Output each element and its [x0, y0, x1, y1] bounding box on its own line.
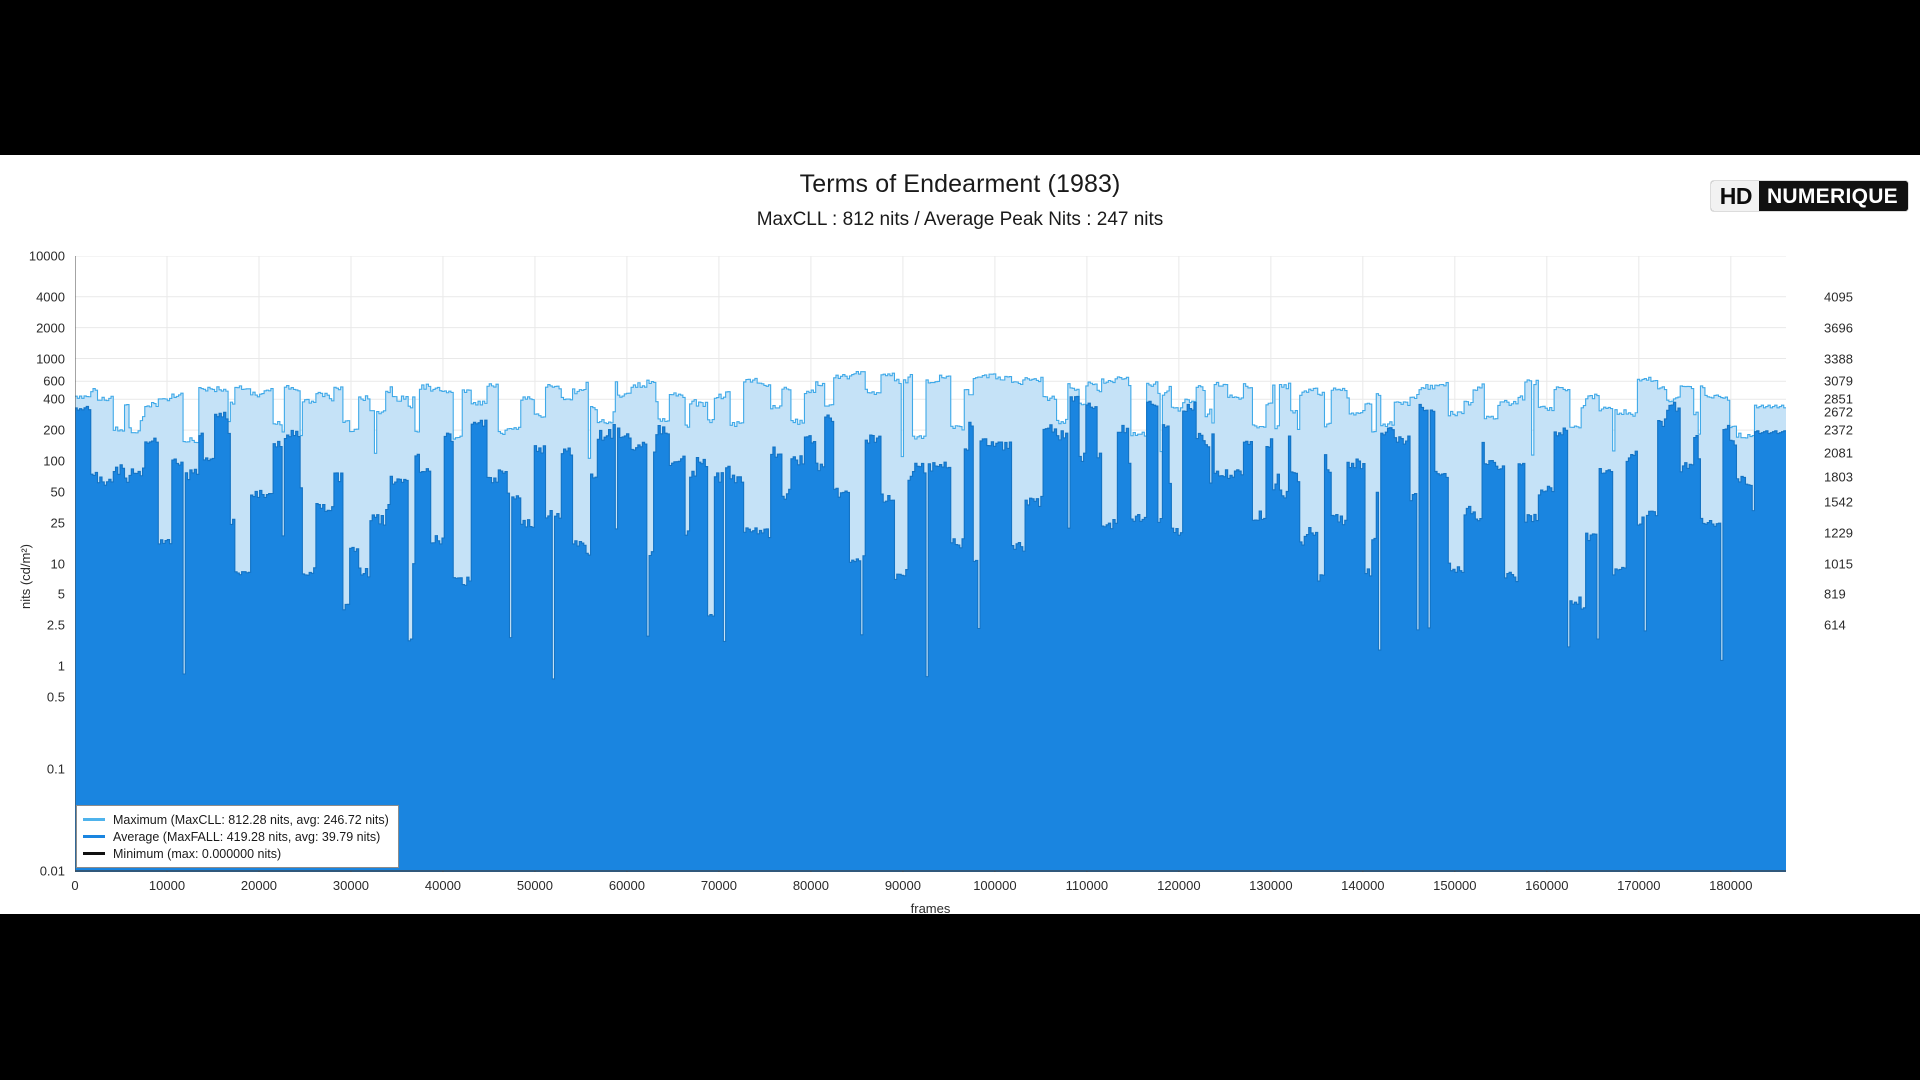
y-axis-tick-label: 2000 [0, 320, 65, 335]
x-axis-tick-label: 30000 [333, 878, 369, 893]
y-axis-tick-label: 600 [0, 374, 65, 389]
y2-axis-tick-label: 1542 [1824, 494, 1853, 509]
letterbox-bottom-bar [0, 914, 1920, 1080]
legend-item-label: Minimum (max: 0.000000 nits) [113, 847, 281, 861]
x-axis-tick-label: 120000 [1157, 878, 1200, 893]
y2-axis-tick-label: 3079 [1824, 374, 1853, 389]
y2-axis-tick-label: 614 [1824, 618, 1846, 633]
x-axis-tick-label: 110000 [1066, 878, 1108, 893]
x-axis-tick-label: 10000 [149, 878, 185, 893]
legend-item[interactable]: Maximum (MaxCLL: 812.28 nits, avg: 246.7… [83, 811, 389, 828]
x-axis-tick-label: 140000 [1341, 878, 1384, 893]
y2-axis-tick-label: 2672 [1824, 405, 1853, 420]
y-axis-tick-label: 1000 [0, 351, 65, 366]
y-axis-tick-label: 100 [0, 454, 65, 469]
y2-axis-tick-label: 3388 [1824, 351, 1853, 366]
y-axis-tick-label: 1 [0, 659, 65, 674]
x-axis-tick-label: 90000 [885, 878, 921, 893]
y-axis-tick-label: 2.5 [0, 618, 65, 633]
luminance-waveform-svg [75, 256, 1786, 872]
plot-wrapper: nits (cd/m²) frames Maximum (MaxCLL: 812… [0, 155, 1920, 914]
y2-axis-tick-label: 1803 [1824, 469, 1853, 484]
screenshot-root: Terms of Endearment (1983) MaxCLL : 812 … [0, 0, 1920, 1080]
chart-legend: Maximum (MaxCLL: 812.28 nits, avg: 246.7… [76, 805, 399, 868]
x-axis-tick-label: 180000 [1709, 878, 1752, 893]
y-axis-tick-label: 4000 [0, 289, 65, 304]
y-axis-tick-label: 0.1 [0, 761, 65, 776]
x-axis-tick-label: 170000 [1617, 878, 1660, 893]
y2-axis-tick-label: 3696 [1824, 320, 1853, 335]
y2-axis-tick-label: 2372 [1824, 423, 1853, 438]
y-axis-tick-label: 10000 [0, 249, 65, 264]
y2-axis-tick-label: 2081 [1824, 445, 1853, 460]
legend-item[interactable]: Average (MaxFALL: 419.28 nits, avg: 39.7… [83, 828, 389, 845]
x-axis-tick-label: 40000 [425, 878, 461, 893]
y-axis-tick-label: 0.01 [0, 864, 65, 879]
legend-item-label: Maximum (MaxCLL: 812.28 nits, avg: 246.7… [113, 813, 389, 827]
y-axis-tick-label: 400 [0, 392, 65, 407]
y-axis-tick-label: 50 [0, 484, 65, 499]
y-axis-tick-label: 200 [0, 423, 65, 438]
legend-color-swatch [83, 818, 105, 821]
y-axis-tick-label: 0.5 [0, 689, 65, 704]
x-axis-tick-label: 0 [71, 878, 78, 893]
x-axis-tick-label: 100000 [973, 878, 1016, 893]
legend-item[interactable]: Minimum (max: 0.000000 nits) [83, 845, 389, 862]
x-axis-tick-label: 70000 [701, 878, 737, 893]
y-axis-tick-label: 25 [0, 515, 65, 530]
x-axis-tick-label: 130000 [1249, 878, 1292, 893]
x-axis-tick-label: 60000 [609, 878, 645, 893]
x-axis-tick-label: 50000 [517, 878, 553, 893]
legend-color-swatch [83, 852, 105, 855]
y-axis-tick-label: 10 [0, 556, 65, 571]
y2-axis-tick-label: 4095 [1824, 289, 1853, 304]
y2-axis-tick-label: 819 [1824, 587, 1846, 602]
x-axis-tick-label: 150000 [1433, 878, 1476, 893]
x-axis-tick-label: 80000 [793, 878, 829, 893]
legend-item-label: Average (MaxFALL: 419.28 nits, avg: 39.7… [113, 830, 380, 844]
legend-color-swatch [83, 835, 105, 838]
x-axis-tick-label: 20000 [241, 878, 277, 893]
y2-axis-tick-label: 1015 [1824, 556, 1853, 571]
y-axis-tick-label: 5 [0, 587, 65, 602]
plot-area [75, 256, 1786, 871]
y2-axis-tick-label: 1229 [1824, 525, 1853, 540]
x-axis-tick-label: 160000 [1525, 878, 1568, 893]
letterbox-top-bar [0, 0, 1920, 155]
chart-card: Terms of Endearment (1983) MaxCLL : 812 … [0, 155, 1920, 914]
